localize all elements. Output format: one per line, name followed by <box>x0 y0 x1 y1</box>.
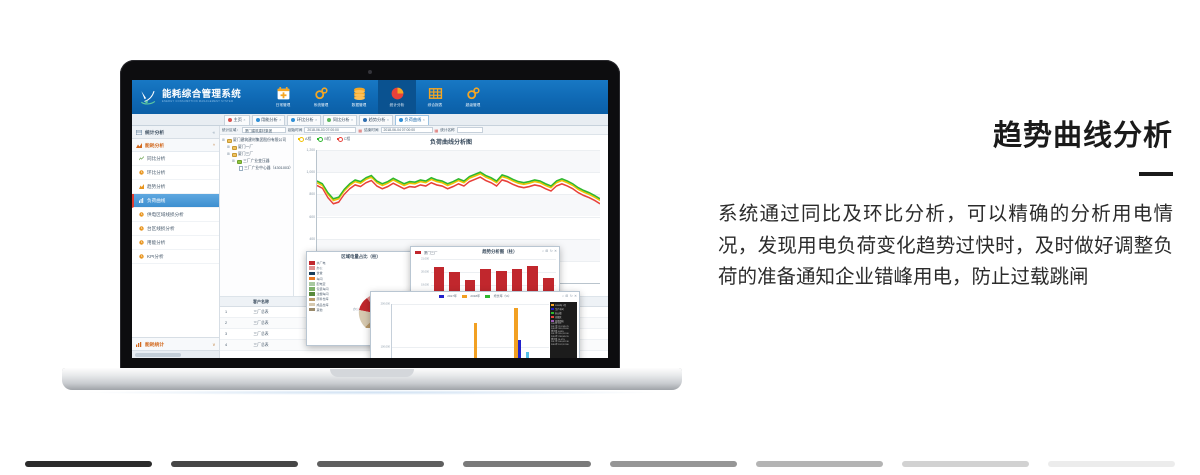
app-topbar: 能耗综合管理系统 ENERGY CONSUMPTION MANAGEMENT S… <box>132 80 608 114</box>
clock-icon <box>139 170 144 175</box>
legend-swatch <box>309 266 315 270</box>
nav-item-label: 数据管理 <box>352 102 367 108</box>
sidebar-item-label: 用能分析 <box>147 240 165 246</box>
chevron-down-icon: v <box>213 342 215 347</box>
document-icon <box>239 166 243 171</box>
bottom-bar-0 <box>25 461 152 467</box>
expand-icon[interactable]: ⊞ <box>227 151 230 158</box>
region-pie-legend: 水厂电 办公 食堂 车间 配电室 包装车间 注塑车间 原料仓库 成品仓库 其 <box>309 261 329 312</box>
nav-item-5[interactable]: 超级管理 <box>454 80 492 114</box>
calendar-icon-end[interactable]: ▦ <box>435 128 439 133</box>
legend-label: 2018年 <box>470 294 480 298</box>
tree-node-label: 三厂广业变压器 <box>243 158 270 165</box>
tab-close-icon[interactable]: × <box>351 118 353 122</box>
legend-swatch <box>298 138 303 140</box>
expand-icon[interactable]: ⊞ <box>232 158 235 165</box>
sidebar-footer[interactable]: 能耗统计 v <box>132 337 219 350</box>
tab-label: 主页 <box>234 117 242 123</box>
tree-node-label: 三厂广业中心器（4301003） <box>244 165 293 172</box>
right-text-panel: 趋势曲线分析 系统通过同比及环比分析，可以精确的分析用电情况，发现用电负荷变化趋… <box>718 112 1173 293</box>
legend-label: 车间 <box>317 277 323 281</box>
sidebar-header-label: 统计分析 <box>145 129 164 136</box>
page-title: 趋势曲线分析 <box>718 112 1173 154</box>
y-axis-tick: 600 <box>309 215 317 219</box>
bottom-bar-4 <box>610 461 737 467</box>
bottom-bar-6 <box>902 461 1029 467</box>
detail-legend: 2018年 1月 生产车间 办公楼 仓储区 其他用电2018年 1月2017年 … <box>550 302 577 347</box>
bottom-bar-1 <box>171 461 298 467</box>
series-A相 <box>317 174 600 201</box>
line-chart-icon <box>139 156 144 161</box>
clock-icon <box>139 240 144 245</box>
trend-y-tick: 19,000 <box>421 284 431 287</box>
clock-icon <box>139 212 144 217</box>
start-time-input[interactable]: 2018-06-03 07:00:00 <box>304 127 356 133</box>
filter-bar: 统计区域： 厦门建筑建材集团 起始时间 2018-06-03 07:00:00 … <box>220 126 608 135</box>
legend-swatch <box>309 277 315 281</box>
tree-node-3[interactable]: ⊞ 三厂广业变压器 <box>222 158 291 165</box>
folder-icon <box>227 139 232 143</box>
legend-swatch <box>551 312 554 314</box>
tree-node-0[interactable]: ⊞ 厦门建筑建材集团股份有限公司 <box>222 137 291 144</box>
app-window: 能耗综合管理系统 ENERGY CONSUMPTION MANAGEMENT S… <box>132 80 608 358</box>
end-time-label: 结束时间 <box>364 128 378 133</box>
trend-window-controls[interactable]: ⌕⊞↻✕ <box>542 249 557 253</box>
bar-chart-icon <box>139 198 144 203</box>
cell-index: 3 <box>220 332 232 336</box>
compare-bar-1-0[interactable] <box>514 308 517 358</box>
legend-label: 原料仓库 <box>317 297 329 301</box>
sidebar-item-1[interactable]: 环比分析 <box>132 166 219 180</box>
page-root: 能耗综合管理系统 ENERGY CONSUMPTION MANAGEMENT S… <box>0 0 1200 475</box>
bar-chart-icon <box>136 342 142 347</box>
nav-item-label: 综合报表 <box>428 102 443 108</box>
sidebar-group-header[interactable]: 能耗分析 ^ <box>132 139 219 152</box>
tab-close-icon[interactable]: × <box>315 118 317 122</box>
compare-plot-area: 200,000100,0000 <box>391 304 549 358</box>
calendar-icon[interactable]: ▦ <box>358 128 362 133</box>
sidebar-items: 同比分析 环比分析 趋势分析 负荷曲线 供电区域线损分析 台区线损分析 用能分析… <box>132 152 219 264</box>
bottom-bar-3 <box>463 461 590 467</box>
cell-customer: 三厂总表 <box>232 332 290 337</box>
legend-swatch <box>309 261 315 265</box>
tab-2[interactable]: 环比分析 × <box>287 115 321 125</box>
sidebar-item-label: 供电区域线损分析 <box>147 212 184 218</box>
sidebar-item-label: 台区线损分析 <box>147 226 175 232</box>
legend-swatch <box>485 295 490 298</box>
sidebar-item-label: 负荷曲线 <box>147 198 165 204</box>
nav-item-label: 超级管理 <box>466 102 481 108</box>
compare-grid-line <box>392 347 549 348</box>
logo-subtitle: ENERGY CONSUMPTION MANAGEMENT SYSTEM <box>162 101 238 103</box>
compare-legend: 2017年 2018年 增长率（%） <box>371 292 579 298</box>
legend-swatch <box>551 304 554 306</box>
sidebar-group-label: 能耗分析 <box>145 142 164 149</box>
tab-close-icon[interactable]: × <box>243 118 245 122</box>
compare-bar-1-3[interactable] <box>526 352 529 358</box>
expand-icon[interactable]: ⊞ <box>222 137 225 144</box>
tab-label: 趋势分析 <box>369 117 386 123</box>
tab-1[interactable]: 用能分析 × <box>252 115 286 125</box>
cell-index: 2 <box>220 321 232 325</box>
content-area: 统计区域： 厦门建筑建材集团 起始时间 2018-06-03 07:00:00 … <box>220 126 608 358</box>
sidebar-collapse-icon[interactable]: « <box>212 130 215 135</box>
pie-legend-item-0[interactable]: 水厂电 <box>309 261 329 265</box>
pin-icon: ⌕ <box>562 294 564 298</box>
laptop-notch <box>330 369 414 377</box>
bottom-bar-7 <box>1048 461 1175 467</box>
compare-grid-line <box>392 304 549 305</box>
tab-close-icon[interactable]: × <box>279 118 281 122</box>
legend-swatch <box>439 295 444 298</box>
tree-node-label: 厦门三厂 <box>238 151 253 158</box>
tab-label: 同比分析 <box>333 117 350 123</box>
sidebar-item-0[interactable]: 同比分析 <box>132 152 219 166</box>
logo-bird-icon <box>139 88 158 107</box>
legend-label: 办公 <box>317 266 323 270</box>
legend-swatch <box>309 308 315 312</box>
trend-legend-label: 厦门三厂 <box>424 250 438 255</box>
legend-swatch <box>337 138 342 140</box>
legend-swatch <box>309 292 315 296</box>
description-paragraph: 系统通过同比及环比分析，可以精确的分析用电情况，发现用电负荷变化趋势过快时，及时… <box>718 198 1173 293</box>
laptop-shadow <box>82 390 662 395</box>
name-filter-label: 统计名称 <box>440 128 454 133</box>
compare-bar-0-0[interactable] <box>474 323 477 358</box>
area-filter-input[interactable]: 厦门建筑建材集团 <box>242 127 286 133</box>
trend-grid-line <box>431 259 556 260</box>
tab-0[interactable]: 主页 × <box>224 115 250 125</box>
cell-index: 4 <box>220 343 232 347</box>
legend-swatch <box>551 320 554 322</box>
close-icon: ✕ <box>574 294 577 298</box>
legend-swatch <box>309 303 315 307</box>
tree-node-label: 厦门建筑建材集团股份有限公司 <box>233 137 286 144</box>
pie-legend-item-9[interactable]: 其他 <box>309 308 329 312</box>
name-filter-input[interactable] <box>457 127 483 133</box>
tab-3[interactable]: 同比分析 × <box>323 115 357 125</box>
trend-y-tick: 21,000 <box>421 258 431 261</box>
legend-label: 其他 <box>317 308 323 312</box>
sidebar-item-label: KPI分析 <box>147 254 164 260</box>
legend-label: 成品仓库 <box>317 303 329 307</box>
sidebar-item-label: 趋势分析 <box>147 184 165 190</box>
scrollbar-thumb[interactable] <box>135 353 181 357</box>
org-tree: ⊞ 厦门建筑建材集团股份有限公司 ⊞ 厦门一厂 ⊞ 厦门三厂 ⊞ 三厂广业变压器… <box>220 135 294 296</box>
gears-icon <box>466 87 481 101</box>
compare-window-controls[interactable]: ⌕⊞↻✕ <box>562 294 577 298</box>
sidebar-item-3[interactable]: 负荷曲线 <box>132 194 219 208</box>
sidebar-spacer <box>132 264 219 337</box>
compare-window[interactable]: ⌕⊞↻✕ 2017年 2018年 增长率（%） 200,000100,0000 … <box>370 291 580 358</box>
chart-toggle-icon: ⊞ <box>565 294 568 298</box>
nav-item-1[interactable]: 系统管理 <box>302 80 340 114</box>
legend-swatch <box>309 282 315 286</box>
end-time-input[interactable]: 2018-06-04 07:00:00 <box>381 127 433 133</box>
sidebar: 统计分析 « 能耗分析 ^ 同比分析 环比分析 趋势分析 <box>132 126 220 358</box>
trend-legend-swatch <box>415 251 421 254</box>
area-chart-icon <box>139 184 144 189</box>
pie-legend-item-5[interactable]: 包装车间 <box>309 287 329 291</box>
y-axis-tick: 400 <box>309 237 317 241</box>
nav-item-label: 日常管理 <box>276 102 291 108</box>
area-filter-label: 统计区域： <box>222 128 240 133</box>
pie-legend-item-7[interactable]: 原料仓库 <box>309 297 329 301</box>
pie-legend-item-2[interactable]: 食堂 <box>309 271 329 275</box>
logo-text: 能耗综合管理系统 ENERGY CONSUMPTION MANAGEMENT S… <box>162 90 241 104</box>
folder-icon <box>237 160 242 164</box>
pie-chart-icon <box>390 87 405 101</box>
cell-customer: 三厂总表 <box>232 321 290 326</box>
table-grid-icon <box>428 87 443 101</box>
nav-item-4[interactable]: 综合报表 <box>416 80 454 114</box>
laptop-screen: 能耗综合管理系统 ENERGY CONSUMPTION MANAGEMENT S… <box>132 80 608 358</box>
laptop-mockup: 能耗综合管理系统 ENERGY CONSUMPTION MANAGEMENT S… <box>62 60 682 395</box>
bottom-bar-5 <box>756 461 883 467</box>
gears-icon <box>314 87 329 101</box>
legend-swatch <box>462 295 467 298</box>
compare-legend-item-0[interactable]: 2017年 <box>439 294 457 298</box>
tree-node-4[interactable]: 三厂广业中心器（4301003） <box>222 165 291 172</box>
compare-y-tick: 100,000 <box>381 346 392 349</box>
pie-legend-item-3[interactable]: 车间 <box>309 277 329 281</box>
y-axis-tick: 800 <box>309 192 317 196</box>
nav-item-0[interactable]: 日常管理 <box>264 80 302 114</box>
trend-y-tick: 20,000 <box>421 271 431 274</box>
line-chart-icon <box>327 118 331 122</box>
tab-close-icon[interactable]: × <box>423 118 425 122</box>
bar-chart-icon <box>399 118 403 122</box>
detail-row-8: 2018年 192,117.80 <box>551 344 576 347</box>
refresh-icon: ↻ <box>550 249 553 253</box>
clock-icon <box>139 226 144 231</box>
grid-icon <box>136 130 142 135</box>
bottom-bar-strip <box>0 461 1200 467</box>
region-window-title: 区域电量占比（柱） <box>307 252 415 260</box>
sidebar-item-label: 环比分析 <box>147 170 165 176</box>
pie-label-left: 办公 <box>353 306 359 311</box>
chart-toggle-icon: ⊞ <box>545 249 548 253</box>
legend-swatch <box>317 138 322 140</box>
tab-label: 负荷曲线 <box>405 117 422 123</box>
compare-y-tick: 200,000 <box>381 303 392 306</box>
sidebar-footer-label: 能耗统计 <box>145 341 164 348</box>
tab-label: 环比分析 <box>297 117 314 123</box>
sidebar-item-4[interactable]: 供电区域线损分析 <box>132 208 219 222</box>
app-logo: 能耗综合管理系统 ENERGY CONSUMPTION MANAGEMENT S… <box>132 88 264 107</box>
clock-icon <box>139 254 144 259</box>
nav-item-label: 系统管理 <box>314 102 329 108</box>
title-divider <box>1139 172 1173 176</box>
sidebar-item-7[interactable]: KPI分析 <box>132 250 219 264</box>
nav-item-3[interactable]: 统计分析 <box>378 80 416 114</box>
folder-icon <box>232 153 237 157</box>
compare-bar-1-1[interactable] <box>518 340 521 358</box>
clock-icon <box>291 118 295 122</box>
tab-close-icon[interactable]: × <box>387 118 389 122</box>
sidebar-item-2[interactable]: 趋势分析 <box>132 180 219 194</box>
sidebar-item-6[interactable]: 用能分析 <box>132 236 219 250</box>
folder-icon <box>232 146 237 150</box>
tab-bar: 主页 × 用能分析 × 环比分析 × 同比分析 × 趋势分析 × 负荷曲线 × <box>132 114 608 126</box>
chevron-up-icon: ^ <box>213 143 215 148</box>
close-icon: ✕ <box>554 249 557 253</box>
expand-icon[interactable]: ⊞ <box>227 144 230 151</box>
pie-legend-item-4[interactable]: 配电室 <box>309 282 329 286</box>
database-icon <box>352 87 367 101</box>
nav-item-2[interactable]: 数据管理 <box>340 80 378 114</box>
legend-label: 注塑车间 <box>317 292 329 296</box>
compare-legend-item-1[interactable]: 2018年 <box>462 294 480 298</box>
nav-item-label: 统计分析 <box>390 102 405 108</box>
bottom-bar-2 <box>317 461 444 467</box>
pie-legend-item-6[interactable]: 注塑车间 <box>309 292 329 296</box>
legend-label: 增长率（%） <box>494 294 512 298</box>
legend-swatch <box>309 298 315 302</box>
pie-legend-item-1[interactable]: 办公 <box>309 266 329 270</box>
table-column-header-1[interactable]: 客户名称 <box>232 299 290 305</box>
cell-customer: 三厂总表 <box>232 343 290 348</box>
app-body: 统计分析 « 能耗分析 ^ 同比分析 环比分析 趋势分析 <box>132 126 608 358</box>
tab-4[interactable]: 趋势分析 × <box>359 115 393 125</box>
clock-icon <box>256 118 260 122</box>
sidebar-header: 统计分析 « <box>132 126 219 139</box>
legend-label: 食堂 <box>317 271 323 275</box>
pie-legend-item-8[interactable]: 成品仓库 <box>309 303 329 307</box>
mountain-chart-icon <box>136 143 142 148</box>
legend-label: 2017年 <box>447 294 457 298</box>
home-icon <box>228 118 232 122</box>
legend-swatch <box>551 308 554 310</box>
y-axis-tick: 1,200 <box>307 148 318 152</box>
start-time-label: 起始时间 <box>288 128 302 133</box>
legend-swatch <box>309 272 315 276</box>
cell-customer: 三厂总表 <box>232 310 290 315</box>
sidebar-scrollbar[interactable] <box>132 350 219 358</box>
laptop-lid: 能耗综合管理系统 ENERGY CONSUMPTION MANAGEMENT S… <box>120 60 620 372</box>
tree-node-label: 厦门一厂 <box>238 144 253 151</box>
tab-5[interactable]: 负荷曲线 × <box>395 115 429 125</box>
logo-title: 能耗综合管理系统 <box>162 90 241 100</box>
y-axis-tick: 1,000 <box>307 170 318 174</box>
tab-label: 用能分析 <box>261 117 278 123</box>
webcam-icon <box>368 70 372 74</box>
refresh-icon: ↻ <box>570 294 573 298</box>
calendar-plus-icon <box>276 87 291 101</box>
area-chart-icon <box>363 118 367 122</box>
trend-series-legend: 厦门三厂 趋势分析图（柱） <box>411 247 559 255</box>
legend-swatch <box>551 316 554 318</box>
tree-node-2[interactable]: ⊞ 厦门三厂 <box>222 151 291 158</box>
legend-label: 包装车间 <box>317 287 329 291</box>
main-nav: 日常管理 系统管理 数据管理 统计分析 综合报表 超级管理 <box>264 80 492 114</box>
compare-detail-panel: 2018年 1月 生产车间 办公楼 仓储区 其他用电2018年 1月2017年 … <box>550 302 577 358</box>
tree-node-1[interactable]: ⊞ 厦门一厂 <box>222 144 291 151</box>
pin-icon: ⌕ <box>542 249 544 253</box>
legend-swatch <box>309 287 315 291</box>
sidebar-item-label: 同比分析 <box>147 156 165 162</box>
cell-index: 1 <box>220 310 232 314</box>
sidebar-item-5[interactable]: 台区线损分析 <box>132 222 219 236</box>
legend-label: 配电室 <box>317 282 326 286</box>
compare-legend-item-2[interactable]: 增长率（%） <box>485 294 511 298</box>
legend-label: 水厂电 <box>317 261 326 265</box>
